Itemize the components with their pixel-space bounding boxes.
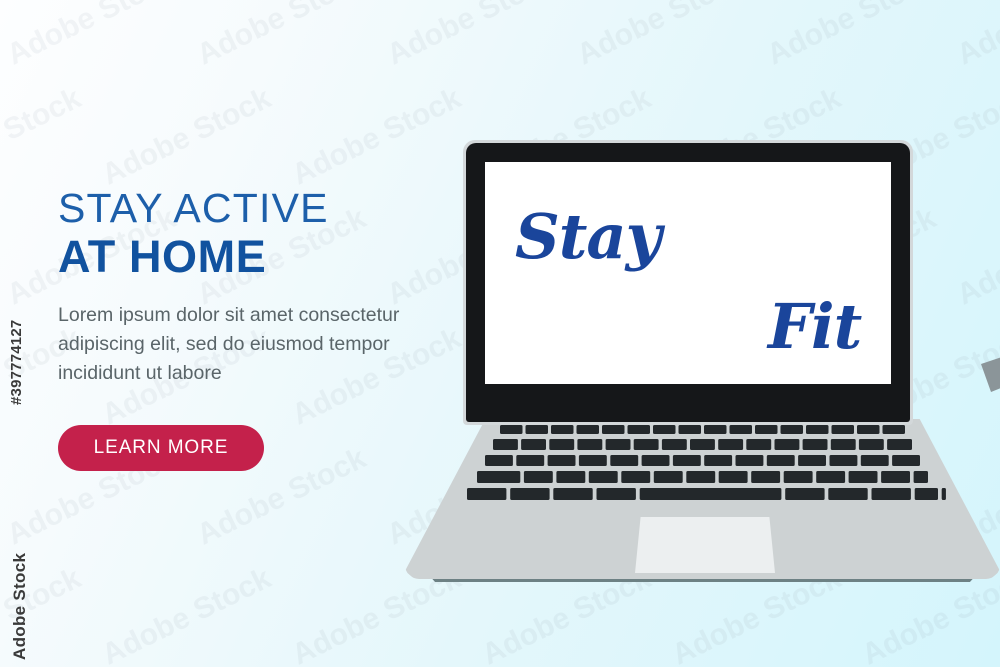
keyboard-key[interactable] — [832, 425, 855, 434]
keyboard-key[interactable] — [634, 439, 659, 450]
watermark-text: Adobe Stock — [952, 0, 1000, 72]
banner-canvas: Adobe StockAdobe StockAdobe StockAdobe S… — [0, 0, 1000, 667]
page-subtitle: Lorem ipsum dolor sit amet consectetur a… — [58, 301, 420, 388]
watermark-text: Adobe Stock — [762, 0, 942, 72]
keyboard-key[interactable] — [881, 471, 910, 483]
keyboard-key[interactable] — [704, 425, 727, 434]
screen-word-stay: Stay — [515, 200, 661, 273]
adobe-stock-watermark: Adobe Stock — [10, 553, 30, 660]
keyboard-key[interactable] — [500, 425, 523, 434]
keyboard-key[interactable] — [755, 425, 778, 434]
keyboard-key[interactable] — [577, 425, 600, 434]
keyboard-key[interactable] — [579, 455, 607, 466]
keyboard-key[interactable] — [524, 471, 553, 483]
keyboard-key[interactable] — [830, 455, 858, 466]
keyboard-key[interactable] — [602, 425, 625, 434]
keyboard-key[interactable] — [526, 425, 549, 434]
keyboard-key[interactable] — [719, 471, 748, 483]
keyboard-key[interactable] — [730, 425, 753, 434]
keyboard-key[interactable] — [775, 439, 800, 450]
keyboard-key[interactable] — [828, 488, 867, 500]
woman-exercising-with-dumbbells-icon — [925, 162, 1000, 542]
keyboard-key[interactable] — [516, 455, 544, 466]
keyboard-key[interactable] — [872, 488, 911, 500]
page-title-line1: STAY ACTIVE — [58, 186, 428, 230]
keyboard-key[interactable] — [589, 471, 618, 483]
keyboard-key[interactable] — [654, 471, 683, 483]
keyboard-key[interactable] — [861, 455, 889, 466]
keyboard-key[interactable] — [704, 455, 732, 466]
dumbbell-lower — [981, 354, 1000, 442]
keyboard-key[interactable] — [857, 425, 880, 434]
keyboard-key[interactable] — [485, 455, 513, 466]
watermark-text: Adobe Stock — [2, 0, 182, 72]
keyboard-key[interactable] — [883, 425, 906, 434]
keyboard-key[interactable] — [781, 425, 804, 434]
keyboard-key[interactable] — [493, 439, 518, 450]
keyboard-key[interactable] — [642, 455, 670, 466]
laptop-keyboard — [405, 419, 1000, 529]
keyboard-key[interactable] — [686, 471, 715, 483]
keyboard-key[interactable] — [662, 439, 687, 450]
laptop-illustration: Stay Fit — [405, 132, 1000, 592]
keyboard-key[interactable] — [690, 439, 715, 450]
keyboard-key[interactable] — [798, 455, 826, 466]
keyboard-key[interactable] — [521, 439, 546, 450]
keyboard-key[interactable] — [556, 471, 585, 483]
keyboard-key[interactable] — [816, 471, 845, 483]
keyboard-key[interactable] — [510, 488, 549, 500]
page-title-line2: AT HOME — [58, 230, 428, 285]
keyboard-key[interactable] — [803, 439, 828, 450]
keyboard-key[interactable] — [597, 488, 636, 500]
copy-block: STAY ACTIVE AT HOME Lorem ipsum dolor si… — [58, 186, 428, 388]
watermark-text: Adobe Stock — [572, 0, 752, 72]
keyboard-key[interactable] — [746, 439, 771, 450]
keyboard-key[interactable] — [606, 439, 631, 450]
keyboard-key[interactable] — [577, 439, 602, 450]
keyboard-key[interactable] — [831, 439, 856, 450]
keyboard-key[interactable] — [610, 455, 638, 466]
keyboard-key[interactable] — [718, 439, 743, 450]
watermark-text: Adobe Stock — [97, 82, 277, 193]
watermark-text: Adobe Stock — [192, 0, 372, 72]
laptop-screen: Stay Fit — [485, 162, 891, 384]
keyboard-key[interactable] — [892, 455, 920, 466]
screen-word-fit: Fit — [768, 290, 861, 363]
keyboard-key[interactable] — [628, 425, 651, 434]
keyboard-key[interactable] — [679, 425, 702, 434]
watermark-text: Adobe Stock — [382, 0, 562, 72]
learn-more-button[interactable]: LEARN MORE — [58, 425, 264, 471]
watermark-text: Adobe Stock — [97, 562, 277, 667]
keyboard-key[interactable] — [849, 471, 878, 483]
keyboard-key[interactable] — [785, 488, 824, 500]
keyboard-key[interactable] — [653, 425, 676, 434]
keyboard-key[interactable] — [784, 471, 813, 483]
keyboard-key[interactable] — [736, 455, 764, 466]
keyboard-key[interactable] — [806, 425, 829, 434]
keyboard-key[interactable] — [640, 488, 782, 500]
keyboard-key[interactable] — [553, 488, 592, 500]
keyboard-key[interactable] — [477, 471, 520, 483]
watermark-text: Adobe Stock — [0, 82, 87, 193]
asset-id-watermark: #397774127 — [8, 320, 25, 405]
keyboard-key[interactable] — [549, 439, 574, 450]
keyboard-key[interactable] — [767, 455, 795, 466]
keyboard-key[interactable] — [751, 471, 780, 483]
keyboard-key[interactable] — [673, 455, 701, 466]
keyboard-key[interactable] — [548, 455, 576, 466]
keyboard-key[interactable] — [859, 439, 884, 450]
keyboard-key[interactable] — [621, 471, 650, 483]
keyboard-key[interactable] — [467, 488, 506, 500]
keyboard-key[interactable] — [551, 425, 574, 434]
keyboard-key[interactable] — [887, 439, 912, 450]
